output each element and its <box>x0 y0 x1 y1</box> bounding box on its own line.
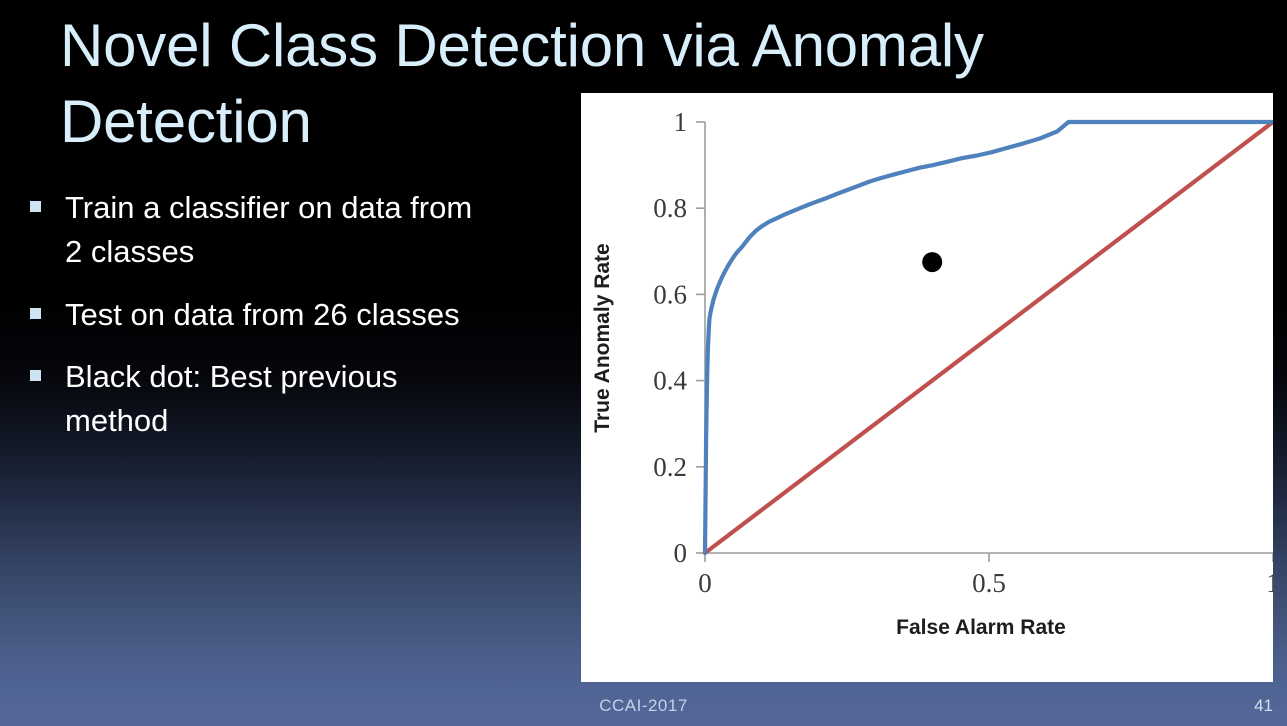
square-bullet-icon <box>30 308 41 319</box>
slide-canvas: Novel Class Detection via Anomaly Detect… <box>0 0 1287 726</box>
y-axis-tick-label: 0 <box>674 538 688 568</box>
x-axis-tick-label: 1 <box>1266 568 1273 598</box>
list-item: Train a classifier on data from 2 classe… <box>30 186 530 275</box>
best-previous-method-point <box>922 252 942 272</box>
square-bullet-icon <box>30 370 41 381</box>
y-axis-tick-label: 0.4 <box>653 366 687 396</box>
square-bullet-icon <box>30 201 41 212</box>
bullet-text: Train a classifier on data from 2 classe… <box>65 186 485 275</box>
y-axis-tick-label: 0.8 <box>653 193 687 223</box>
y-axis-tick-label: 1 <box>674 107 688 137</box>
roc-chart: 00.20.40.60.81 00.51 True Anomaly Rate F… <box>581 93 1273 682</box>
chance-diagonal-series <box>705 122 1273 553</box>
y-axis-tick-labels: 00.20.40.60.81 <box>653 107 687 568</box>
page-number: 41 <box>1254 696 1273 716</box>
x-axis-tick-labels: 00.51 <box>698 568 1273 598</box>
x-axis-tick-label: 0.5 <box>972 568 1006 598</box>
list-item: Black dot: Best previous method <box>30 355 530 444</box>
conference-label: CCAI-2017 <box>0 696 1287 716</box>
roc-chart-panel: 00.20.40.60.81 00.51 True Anomaly Rate F… <box>581 93 1273 682</box>
slide-footer: CCAI-2017 41 <box>0 690 1287 726</box>
y-axis-tick-label: 0.6 <box>653 279 687 309</box>
x-axis-tick-label: 0 <box>698 568 712 598</box>
x-axis-ticks <box>705 553 1273 562</box>
bullet-text: Black dot: Best previous method <box>65 355 485 444</box>
y-axis-title: True Anomaly Rate <box>591 243 614 432</box>
y-axis-tick-label: 0.2 <box>653 452 687 482</box>
list-item: Test on data from 26 classes <box>30 293 530 337</box>
x-axis-title: False Alarm Rate <box>896 616 1066 639</box>
bullet-text: Test on data from 26 classes <box>65 293 460 337</box>
bullet-list: Train a classifier on data from 2 classe… <box>30 186 530 462</box>
